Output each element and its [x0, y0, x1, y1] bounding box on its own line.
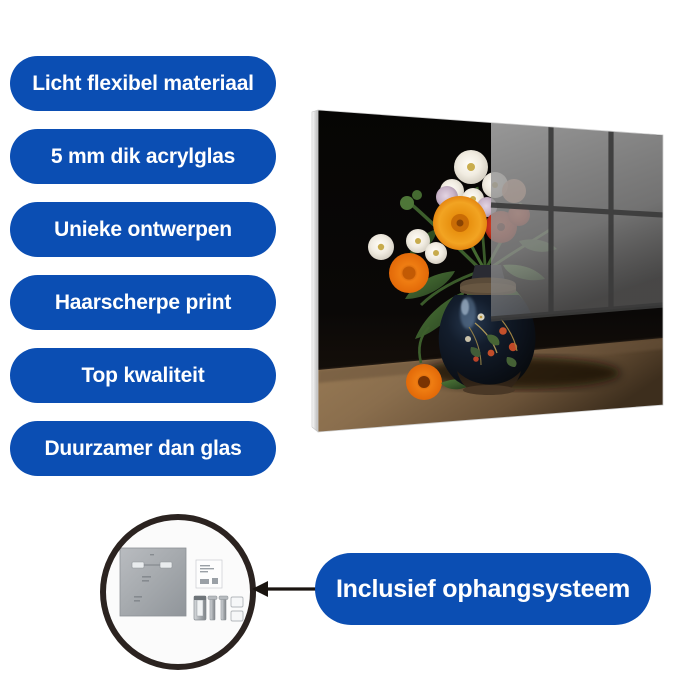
- hanging-system-badge[interactable]: Inclusief ophangsysteem: [315, 553, 651, 625]
- hanging-system-badge-label: Inclusief ophangsysteem: [336, 577, 630, 602]
- feature-badge-list: Licht flexibel materiaal 5 mm dik acrylg…: [10, 56, 276, 494]
- arrow-head-icon: [252, 581, 268, 597]
- feature-badge[interactable]: 5 mm dik acrylglas: [10, 129, 276, 184]
- feature-badge-label: Haarscherpe print: [55, 292, 231, 313]
- hanging-kit-photo: [98, 512, 258, 672]
- plate-clip: [132, 562, 144, 568]
- spacer: [231, 611, 243, 621]
- acrylic-artwork-image: [305, 95, 675, 445]
- plate-clip: [160, 562, 172, 568]
- feature-badge[interactable]: Haarscherpe print: [10, 275, 276, 330]
- feature-badge[interactable]: Licht flexibel materiaal: [10, 56, 276, 111]
- feature-badge[interactable]: Duurzamer dan glas: [10, 421, 276, 476]
- feature-badge-label: Duurzamer dan glas: [44, 438, 241, 459]
- feature-badge-label: Top kwaliteit: [81, 365, 204, 386]
- artwork-scene: [305, 95, 675, 445]
- hanging-system-circle-callout: [98, 512, 258, 672]
- artwork-window-reflection: [491, 117, 663, 319]
- feature-badge-label: 5 mm dik acrylglas: [51, 146, 235, 167]
- screw: [210, 598, 215, 620]
- feature-badge[interactable]: Unieke ontwerpen: [10, 202, 276, 257]
- spacer: [231, 597, 243, 607]
- screw: [221, 598, 226, 620]
- feature-badge[interactable]: Top kwaliteit: [10, 348, 276, 403]
- mounting-plate: [120, 548, 186, 616]
- product-feature-infographic: Licht flexibel materiaal 5 mm dik acrylg…: [0, 0, 700, 700]
- acrylic-artwork-panel: [305, 95, 675, 445]
- feature-badge-label: Unieke ontwerpen: [54, 219, 232, 240]
- acrylic-edge-thickness: [312, 110, 318, 432]
- feature-badge-label: Licht flexibel materiaal: [32, 73, 254, 94]
